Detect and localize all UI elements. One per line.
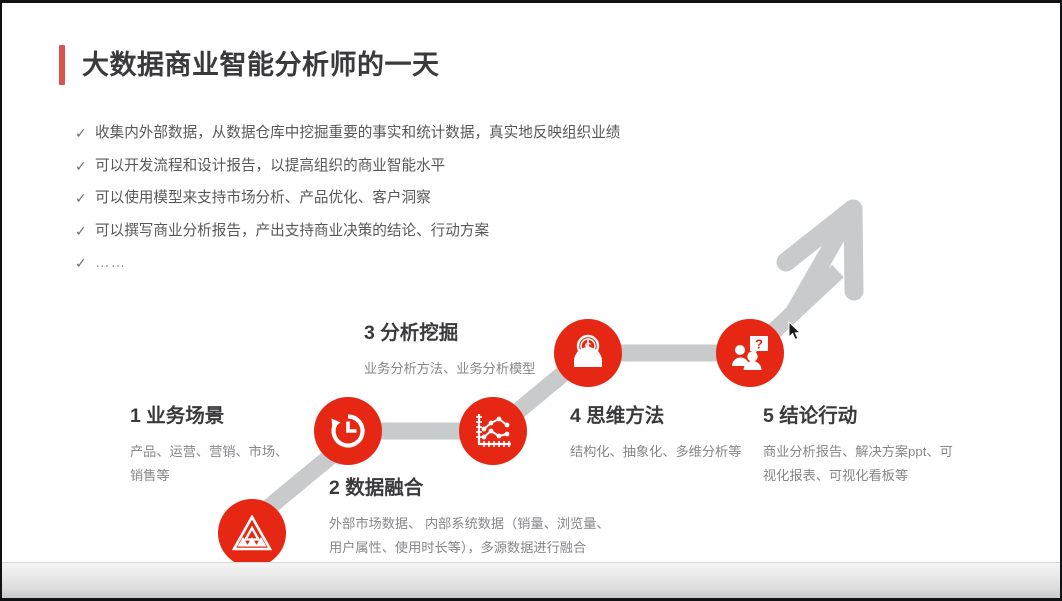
list-item-label: 收集内外部数据，从数据仓库中挖掘重要的事实和统计数据，真实地反映组织业绩: [95, 123, 620, 143]
step-desc-4: 结构化、抽象化、多维分析等: [570, 440, 785, 463]
step-title-1: 1 业务场景: [130, 406, 315, 427]
list-item-label: 可以撰写商业分析报告，产出支持商业决策的结论、行动方案: [95, 221, 489, 241]
step-title-5: 5 结论行动: [763, 406, 983, 427]
title-accent-bar: [59, 45, 65, 85]
page-title: 大数据商业智能分析师的一天: [59, 43, 440, 87]
list-item: ✓ 可以撰写商业分析报告，产出支持商业决策的结论、行动方案: [75, 221, 855, 241]
player-bar[interactable]: [2, 562, 1062, 598]
step-desc-3: 业务分析方法、业务分析模型: [364, 357, 624, 380]
check-icon: ✓: [75, 188, 95, 208]
step-block-5: 5 结论行动 商业分析报告、解决方案ppt、可 视化报表、可视化看板等: [763, 406, 983, 487]
step-title-2: 2 数据融合: [329, 478, 629, 499]
check-icon: ✓: [75, 253, 95, 273]
list-item: ✓ 收集内外部数据，从数据仓库中挖掘重要的事实和统计数据，真实地反映组织业绩: [75, 123, 855, 143]
step-desc-5: 商业分析报告、解决方案ppt、可 视化报表、可视化看板等: [763, 440, 983, 486]
step-block-4: 4 思维方法 结构化、抽象化、多维分析等: [570, 406, 785, 464]
step-block-3: 3 分析挖掘 业务分析方法、业务分析模型: [364, 323, 624, 381]
step-title-3: 3 分析挖掘: [364, 323, 624, 344]
check-icon: ✓: [75, 156, 95, 176]
people-question-icon: ?: [729, 333, 771, 373]
process-node-2[interactable]: [314, 397, 382, 465]
list-item: ✓ ……: [75, 253, 855, 273]
list-item-label: ……: [95, 253, 126, 273]
list-item: ✓ 可以开发流程和设计报告，以提高组织的商业智能水平: [75, 156, 855, 176]
check-icon: ✓: [75, 123, 95, 143]
svg-text:?: ?: [755, 337, 763, 352]
step-block-1: 1 业务场景 产品、运营、营销、市场、 销售等: [130, 406, 315, 487]
line-chart-icon: [472, 411, 514, 451]
process-node-3[interactable]: [459, 397, 527, 465]
check-icon: ✓: [75, 221, 95, 241]
clock-history-icon: [327, 410, 369, 452]
page-title-text: 大数据商业智能分析师的一天: [82, 52, 440, 79]
process-node-1[interactable]: [218, 499, 286, 567]
triangle-fractal-icon: [232, 515, 272, 551]
step-desc-2: 外部市场数据、 内部系统数据（销量、浏览量、 用户属性、使用时长等），多源数据进…: [329, 512, 629, 558]
step-desc-1: 产品、运营、营销、市场、 销售等: [130, 440, 315, 486]
step-block-2: 2 数据融合 外部市场数据、 内部系统数据（销量、浏览量、 用户属性、使用时长等…: [329, 478, 629, 559]
list-item-label: 可以使用模型来支持市场分析、产品优化、客户洞察: [95, 188, 431, 208]
list-item: ✓ 可以使用模型来支持市场分析、产品优化、客户洞察: [75, 188, 855, 208]
step-title-4: 4 思维方法: [570, 406, 785, 427]
slide-root: 大数据商业智能分析师的一天 ✓ 收集内外部数据，从数据仓库中挖掘重要的事实和统计…: [0, 0, 1062, 601]
bullet-list: ✓ 收集内外部数据，从数据仓库中挖掘重要的事实和统计数据，真实地反映组织业绩 ✓…: [75, 123, 855, 286]
process-node-5[interactable]: ?: [716, 319, 784, 387]
list-item-label: 可以开发流程和设计报告，以提高组织的商业智能水平: [95, 156, 445, 176]
